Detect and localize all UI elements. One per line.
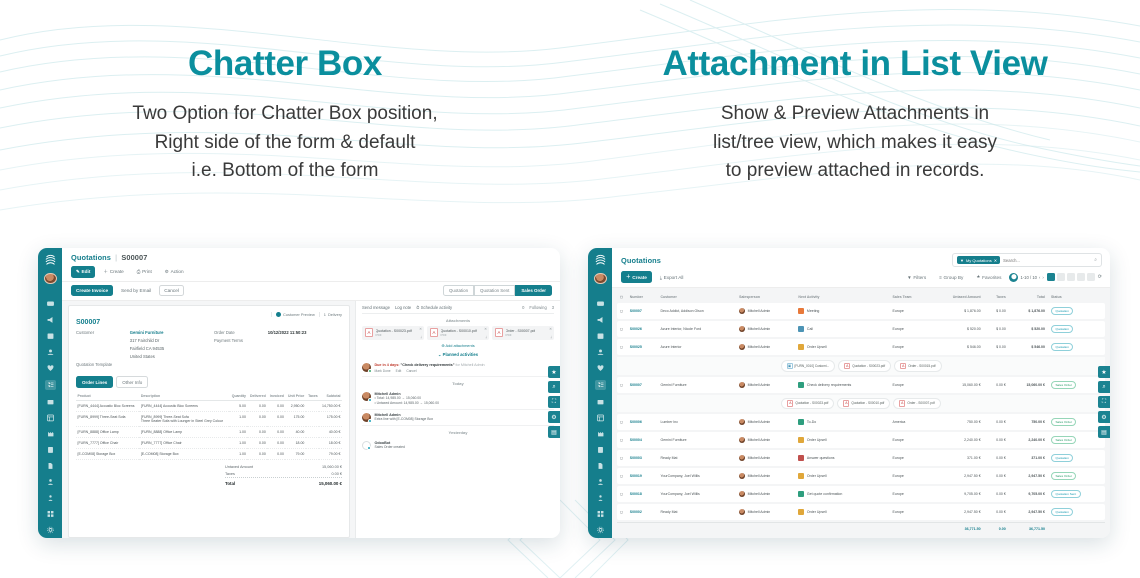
export-all-button[interactable]: ⤓Export All — [655, 272, 689, 283]
favorites-button[interactable]: ★Favorites — [971, 271, 1006, 283]
apps-icon[interactable] — [46, 510, 55, 518]
headline-row: Chatter Box Two Option for Chatter Box p… — [0, 0, 1140, 186]
settings-icon[interactable]: ⚙ — [1098, 411, 1110, 423]
cell-untaxed: 9,705.00 € — [930, 486, 984, 502]
cell-product: [FURN_8999] Three-Seat Sofa — [76, 412, 139, 427]
customer-value[interactable]: Gemini Furniture — [130, 330, 164, 336]
status-badge: Quotation — [1051, 307, 1073, 315]
headline-column-left: Chatter Box Two Option for Chatter Box p… — [0, 0, 570, 186]
status-badge: Sales Order — [1051, 472, 1077, 480]
cell-taxes: 0.00 € — [984, 414, 1009, 430]
pager-next-icon[interactable]: › — [1042, 275, 1043, 280]
attachment-chip[interactable]: AQuotation - S00023.pdf — [781, 398, 834, 410]
attachment-chip[interactable]: AOrder - S00007.pdf — [893, 398, 940, 410]
quotations-body: ◻ S00007 Deco Addict, Addison Olson Mitc… — [617, 303, 1105, 535]
table-row[interactable]: [FURN_8999] Three-Seat Sofa [FURN_8999] … — [76, 412, 342, 427]
cell-customer: Gemini Furniture — [658, 432, 737, 448]
col-subtotal[interactable]: Subtotal — [319, 392, 342, 401]
list-container: ◻ Number Customer Salesperson Next Activ… — [612, 288, 1110, 538]
table-row[interactable]: ◻ S00007 Deco Addict, Addison Olson Mitc… — [617, 303, 1105, 319]
odoo-logo-icon[interactable] — [42, 253, 59, 268]
cancel-button[interactable]: Cancel — [159, 285, 184, 296]
close-icon[interactable]: ✕ — [994, 258, 997, 263]
control-panel: Quotations ▼ My Quotations ✕ ⌕ ＋Create ⤓… — [612, 248, 1110, 288]
download-icon[interactable]: ⤓ — [551, 335, 553, 339]
cell-invoiced: 0.00 — [267, 449, 285, 460]
close-icon[interactable]: ✕ — [549, 327, 552, 331]
total-untaxed-value: 15,060.00 € — [322, 465, 342, 469]
total-untaxed-row: Untaxed Amount 15,060.00 € — [225, 464, 342, 471]
cell-quantity: 1.00 — [229, 427, 247, 438]
row-checkbox[interactable]: ◻ — [617, 339, 627, 355]
cell-number[interactable]: S00025 — [630, 345, 642, 349]
record-title: S00007 — [76, 319, 342, 326]
avatar — [362, 363, 371, 372]
cell-sales-team: Europe — [890, 339, 930, 355]
cell-salesperson: Mitchell Admin — [748, 438, 771, 442]
avatar[interactable] — [44, 273, 57, 285]
cell-subtotal: 18.00 € — [319, 438, 342, 449]
cell-quantity: 1.00 — [229, 412, 247, 427]
create-invoice-button[interactable]: Create Invoice — [71, 285, 113, 296]
row-checkbox[interactable]: ◻ — [617, 303, 627, 319]
pivot-view-icon[interactable] — [1077, 273, 1085, 281]
calendar-view-icon[interactable] — [1067, 273, 1075, 281]
avatar — [739, 491, 745, 497]
chat-icon[interactable]: ▤ — [548, 426, 560, 438]
cell-taxes: $ 0.00 — [984, 303, 1009, 319]
pager-previous-icon[interactable]: ‹ — [1039, 275, 1040, 280]
settings-icon[interactable] — [596, 526, 605, 534]
status-badge: Quotation — [1051, 454, 1073, 462]
cell-number[interactable]: S00018 — [630, 492, 642, 496]
cell-salesperson: Mitchell Admin — [748, 456, 771, 460]
contacts-icon[interactable] — [596, 348, 605, 356]
documents-icon[interactable] — [596, 462, 605, 470]
printer-icon: ⎙ — [137, 269, 141, 274]
sales-icon[interactable] — [595, 380, 606, 390]
attachments-count[interactable]: 3 — [552, 305, 554, 310]
pipeline-quotation[interactable]: Quotation — [443, 285, 474, 296]
sales-icon[interactable] — [45, 380, 56, 390]
cell-sales-team: Europe — [890, 450, 930, 466]
download-icon[interactable]: ⤓ — [486, 335, 488, 339]
expand-icon[interactable]: ⛶ — [1098, 396, 1110, 408]
cell-description: [FURN_8888] Office Lamp — [139, 427, 229, 438]
list-view-icon[interactable] — [1047, 273, 1055, 281]
close-icon[interactable]: ✕ — [484, 327, 487, 331]
print-button[interactable]: ⎙Print — [132, 266, 157, 277]
avatar — [739, 326, 745, 332]
table-row[interactable]: [FURN_7777] Office Chair [FURN_7777] Off… — [76, 438, 342, 449]
table-row[interactable]: ◻ S00003 Ready Mat Mitchell Admin Answer… — [617, 450, 1105, 466]
breadcrumb[interactable]: Quotations | S00007 — [71, 253, 147, 262]
summary-taxes: 0.00 — [984, 522, 1009, 535]
plus-icon: ＋ — [103, 269, 108, 275]
cell-taxes: 0.00 € — [984, 504, 1009, 520]
cell-number[interactable]: S00007 — [630, 383, 642, 387]
attachment-preview-row: ▣[FURN_0010] Customi... AQuotation - S00… — [617, 357, 1105, 375]
status-badge: Quotation — [1051, 325, 1073, 333]
cell-subtotal: 79.00 € — [319, 449, 342, 460]
app-sidebar-left[interactable] — [38, 248, 62, 538]
cell-taxes: 0.00 € — [984, 486, 1009, 502]
filters-button[interactable]: ▼Filters — [902, 272, 931, 283]
search-icon[interactable]: ⌕ — [548, 381, 560, 393]
download-icon[interactable]: ⤓ — [421, 335, 423, 339]
attachment-card[interactable]: A Quotation - S00023.pdf PDF ✕ ⤓ — [362, 326, 424, 340]
avatar — [739, 382, 745, 388]
megaphone-icon[interactable] — [596, 316, 605, 324]
inventory-icon[interactable] — [46, 398, 55, 406]
headline-column-right: Attachment in List View Show & Preview A… — [570, 0, 1140, 186]
cell-activity: Get quote confirmation — [807, 492, 842, 496]
employees-icon[interactable] — [46, 478, 55, 486]
cell-activity: Order Upsell — [807, 438, 827, 442]
settings-icon[interactable]: ⚙ — [548, 411, 560, 423]
cell-quantity: 1.00 — [229, 438, 247, 449]
settings-icon[interactable] — [46, 526, 55, 534]
cell-total: 750.00 € — [1009, 414, 1048, 430]
table-row[interactable]: [FURN_8888] Office Lamp [FURN_8888] Offi… — [76, 427, 342, 438]
messages-icon[interactable] — [46, 300, 55, 308]
avatar — [739, 308, 745, 314]
odoo-logo-icon[interactable] — [592, 253, 609, 268]
cell-untaxed: 2,947.50 € — [930, 468, 984, 484]
attachment-chip-list: AQuotation - S00023.pdf AQuotation - S00… — [620, 398, 1102, 410]
activity-view-icon[interactable]: ⟳ — [1098, 274, 1102, 280]
cell-taxes: $ 0.00 — [984, 321, 1009, 337]
cell-salesperson: Mitchell Admin — [748, 420, 771, 424]
total-grand-row: Total 15,060.00 € — [225, 477, 342, 487]
planned-activities-title: ⌄ Planned activities — [362, 352, 554, 357]
cell-activity: Call — [807, 327, 813, 331]
headline-subtitle-left: Two Option for Chatter Box position, Rig… — [0, 100, 570, 186]
search-facet[interactable]: ▼ My Quotations ✕ — [957, 256, 1000, 264]
attachment-toggle-icon[interactable]: ⬤ — [1009, 273, 1018, 282]
recruitment-icon[interactable] — [596, 494, 605, 502]
graph-view-icon[interactable] — [1087, 273, 1095, 281]
recruitment-icon[interactable] — [46, 494, 55, 502]
form-action-buttons: ✎Edit ＋Create ⎙Print ⚙Action — [71, 266, 552, 278]
calendar-icon[interactable] — [46, 332, 55, 340]
table-row[interactable]: ◻ S00002 Ready Mat Mitchell Admin Order … — [617, 504, 1105, 520]
kanban-view-icon[interactable] — [1057, 273, 1065, 281]
cell-description: [FURN_4444] Acoustic Bloc Screens — [139, 401, 229, 412]
attachment-preview-row: AQuotation - S00023.pdf AQuotation - S00… — [617, 395, 1105, 413]
cell-unit-price: 40.00 — [285, 427, 305, 438]
crm-icon[interactable] — [596, 364, 605, 372]
cell-salesperson: Mitchell Admin — [748, 309, 771, 313]
group-by-button[interactable]: ≡Group By — [934, 272, 968, 283]
col-description[interactable]: Description — [139, 392, 229, 401]
col-taxes[interactable]: Taxes — [984, 293, 1009, 301]
row-checkbox[interactable]: ◻ — [617, 432, 627, 448]
row-checkbox[interactable]: ◻ — [617, 468, 627, 484]
cell-activity: Check delivery requirements — [807, 383, 851, 387]
filter-icon: ▼ — [907, 275, 912, 280]
col-total[interactable]: Total — [1009, 293, 1048, 301]
breadcrumb-app[interactable]: Quotations — [71, 253, 111, 262]
delivery-smart-button[interactable]: 1 Delivery — [319, 312, 342, 317]
pipeline-quotation-sent[interactable]: Quotation Sent — [474, 285, 515, 296]
form-view-screenshot: Quotations | S00007 ✎Edit ＋Create ⎙Print… — [38, 248, 560, 538]
cell-untaxed: $ 1,876.00 — [930, 303, 984, 319]
cell-activity: To-Do — [807, 420, 816, 424]
table-row[interactable]: ◻ S00007 Gemini Furniture Mitchell Admin… — [617, 377, 1105, 393]
star-icon[interactable]: ★ — [548, 366, 560, 378]
row-checkbox[interactable]: ◻ — [617, 450, 627, 466]
control-panel: Quotations | S00007 ✎Edit ＋Create ⎙Print… — [62, 248, 560, 282]
group-icon: ≡ — [939, 275, 942, 280]
chatter-message: OdooBot Sales Order created — [362, 438, 554, 453]
crm-icon[interactable] — [46, 364, 55, 372]
col-invoiced[interactable]: Invoiced — [267, 392, 285, 401]
col-customer[interactable]: Customer — [658, 293, 737, 301]
cell-taxes: 0.00 € — [984, 468, 1009, 484]
col-delivered[interactable]: Delivered — [247, 392, 267, 401]
row-checkbox[interactable]: ◻ — [617, 504, 627, 520]
purchase-icon[interactable] — [596, 414, 605, 422]
search-icon[interactable]: ⌕ — [1094, 257, 1097, 263]
search-input[interactable] — [1003, 258, 1091, 263]
cancel-activity-button[interactable]: Cancel — [406, 369, 416, 373]
documents-icon[interactable] — [46, 462, 55, 470]
chat-icon[interactable]: ▤ — [1098, 426, 1110, 438]
cell-salesperson: Mitchell Admin — [748, 345, 771, 349]
col-select-all[interactable]: ◻ — [617, 293, 627, 301]
apps-icon[interactable] — [596, 510, 605, 518]
attachment-chip[interactable]: AOrder - S00015.pdf — [894, 360, 941, 372]
cell-salesperson: Mitchell Admin — [748, 474, 771, 478]
close-icon[interactable]: ✕ — [419, 327, 422, 331]
cell-number[interactable]: S00026 — [630, 327, 642, 331]
accounting-icon[interactable] — [46, 446, 55, 454]
messages-icon[interactable] — [596, 300, 605, 308]
cell-salesperson: Mitchell Admin — [748, 510, 771, 514]
cell-number[interactable]: S00004 — [630, 438, 642, 442]
col-unit-price[interactable]: Unit Price — [285, 392, 305, 401]
col-product[interactable]: Product — [76, 392, 139, 401]
cell-customer: Gemini Furniture — [658, 377, 737, 393]
table-row[interactable]: ◻ S00004 Gemini Furniture Mitchell Admin… — [617, 432, 1105, 448]
avatar — [739, 473, 745, 479]
cell-customer: YourCompany, Joel Willis — [658, 486, 737, 502]
cell-activity: Meeting — [807, 309, 819, 313]
col-next-activity[interactable]: Next Activity — [795, 293, 889, 301]
todo-icon — [798, 491, 804, 497]
row-checkbox[interactable]: ◻ — [617, 321, 627, 337]
status-badge: Quotation — [1051, 343, 1073, 351]
table-row[interactable]: [FURN_4444] Acoustic Bloc Screens [FURN_… — [76, 401, 342, 412]
contacts-icon[interactable] — [46, 348, 55, 356]
calendar-icon[interactable] — [596, 332, 605, 340]
table-row[interactable]: ◻ S00018 YourCompany, Joel Willis Mitche… — [617, 486, 1105, 502]
cell-product: [FURN_4444] Acoustic Bloc Screens — [76, 401, 139, 412]
call-icon — [798, 326, 804, 332]
view-switcher — [1047, 273, 1095, 281]
list-view-screenshot: Quotations ▼ My Quotations ✕ ⌕ ＋Create ⤓… — [588, 248, 1110, 538]
floating-action-buttons-left: ★ ⌕ ⛶ ⚙ ▤ — [548, 366, 560, 438]
manufacturing-icon[interactable] — [46, 430, 55, 438]
log-note-button[interactable]: Log note — [395, 305, 411, 310]
employees-icon[interactable] — [596, 478, 605, 486]
expand-icon[interactable]: ⛶ — [548, 396, 560, 408]
create-button[interactable]: ＋Create — [98, 266, 128, 278]
row-checkbox[interactable]: ◻ — [617, 414, 627, 430]
smart-buttons: Customer Preview 1 Delivery — [76, 312, 342, 317]
table-row[interactable]: [E-COM08] Storage Box [E-COM08] Storage … — [76, 449, 342, 460]
headline-title-left: Chatter Box — [0, 44, 570, 84]
mark-done-button[interactable]: Mark Done — [375, 369, 391, 373]
following-button[interactable]: Following — [529, 305, 546, 310]
cell-number[interactable]: S00019 — [630, 474, 642, 478]
status-badge: Sales Order — [1051, 418, 1077, 426]
headline-subtitle-right: Show & Preview Attachments in list/tree … — [570, 100, 1140, 186]
action-button[interactable]: ⚙Action — [160, 266, 189, 278]
megaphone-icon[interactable] — [46, 316, 55, 324]
search-bar[interactable]: ▼ My Quotations ✕ ⌕ — [952, 253, 1102, 267]
cell-total: 371.00 € — [1009, 450, 1048, 466]
pager-range: 1-10 / 10 — [1020, 275, 1037, 280]
chevron-down-icon: ⌄ — [438, 352, 442, 357]
cell-sales-team: Europe — [890, 432, 930, 448]
star-icon: ★ — [976, 274, 980, 280]
tab-order-lines[interactable]: Order Lines — [76, 376, 113, 388]
edit-button[interactable]: ✎Edit — [71, 266, 95, 278]
cell-unit-price: 18.00 — [285, 438, 305, 449]
status-bar: Create Invoice Send by Email Cancel Quot… — [62, 282, 560, 301]
form-fields-right: Order Date 10/12/2022 11:50:23 Payment T… — [214, 330, 342, 370]
activity-item: Due in 4 days: "Check delivery requireme… — [362, 360, 554, 377]
send-message-button[interactable]: Send message — [362, 305, 390, 310]
status-badge: Quotation — [1051, 508, 1073, 516]
attachment-card[interactable]: A Order - S00007.pdf PDF ✕ ⤓ — [492, 326, 554, 340]
purchase-icon[interactable] — [46, 414, 55, 422]
cell-customer: Lumber Inc — [658, 414, 737, 430]
pdf-icon: A — [365, 328, 373, 337]
col-number[interactable]: Number — [627, 293, 658, 301]
row-checkbox[interactable]: ◻ — [617, 377, 627, 393]
create-button[interactable]: ＋Create — [621, 271, 652, 283]
schedule-activity-button[interactable]: ⏱ Schedule activity — [416, 305, 452, 310]
total-grand-value: 15,060.00 € — [319, 481, 342, 486]
cell-sales-team: Europe — [890, 504, 930, 520]
status-badge — [367, 446, 371, 450]
cell-number[interactable]: S00002 — [630, 510, 642, 514]
order-lines-table: Product Description Quantity Delivered I… — [76, 392, 342, 460]
cell-taxes: 0.00 € — [984, 450, 1009, 466]
form-view-main: Quotations | S00007 ✎Edit ＋Create ⎙Print… — [62, 248, 560, 538]
order-date-value[interactable]: 10/12/2022 11:50:23 — [268, 330, 307, 336]
cell-subtotal: 14,750.00 € — [319, 401, 342, 412]
table-row[interactable]: ◻ S00025 Azure Interior Mitchell Admin O… — [617, 339, 1105, 355]
form-sheet-column: Customer Preview 1 Delivery S00007 Custo… — [62, 301, 355, 538]
avatar[interactable] — [594, 273, 607, 285]
manufacturing-icon[interactable] — [596, 430, 605, 438]
col-untaxed-amount[interactable]: Untaxed Amount — [930, 293, 984, 301]
cell-salesperson: Mitchell Admin — [748, 492, 771, 496]
plus-icon: ＋ — [626, 274, 631, 280]
row-checkbox[interactable]: ◻ — [617, 486, 627, 502]
cell-number[interactable]: S00003 — [630, 456, 642, 460]
customer-preview-button[interactable]: Customer Preview — [271, 312, 315, 317]
notebook-tabs: Order Lines Other Info — [76, 376, 342, 388]
cell-subtotal: 40.00 € — [319, 427, 342, 438]
attachment-chip[interactable]: AQuotation - S00010.pdf — [837, 398, 890, 410]
cell-number[interactable]: S00006 — [630, 420, 642, 424]
cell-taxes: 0.00 € — [984, 377, 1009, 393]
table-row[interactable]: ◻ S00019 YourCompany, Joel Willis Mitche… — [617, 468, 1105, 484]
cell-untaxed: 15,060.00 € — [930, 377, 984, 393]
message-body: • Total: 14,985.00 → 15,060.00 • Untaxed… — [375, 396, 555, 406]
customer-address-line-2: Fairfield CA 94535 — [130, 346, 164, 352]
attachment-chip[interactable]: AQuotation - S00023.pdf — [838, 360, 891, 372]
col-quantity[interactable]: Quantity — [229, 392, 247, 401]
col-taxes[interactable]: Taxes — [306, 392, 319, 401]
col-salesperson[interactable]: Salesperson — [736, 293, 795, 301]
cell-unit-price: 2,950.00 — [285, 401, 305, 412]
cell-taxes — [306, 412, 319, 427]
attachment-chip-list: ▣[FURN_0010] Customi... AQuotation - S00… — [620, 360, 1102, 372]
tab-other-info[interactable]: Other Info — [116, 376, 148, 388]
send-by-email-button[interactable]: Send by Email — [116, 285, 156, 296]
activity-due: Due in 4 days: — [375, 363, 400, 367]
delivery-count: 1 — [324, 312, 326, 317]
upsell-icon — [798, 437, 804, 443]
cell-invoiced: 0.00 — [267, 438, 285, 449]
cell-untaxed: 2,240.00 € — [930, 432, 984, 448]
pipeline-sales-order[interactable]: Sales Order — [515, 285, 552, 296]
star-icon[interactable]: ★ — [1098, 366, 1110, 378]
cell-customer: Azure Interior, Nicole Ford — [658, 321, 737, 337]
attachment-card[interactable]: A Quotation - S00010.pdf PDF ✕ ⤓ — [427, 326, 489, 340]
table-row[interactable]: ◻ S00006 Lumber Inc Mitchell Admin To-Do… — [617, 414, 1105, 430]
cell-activity: Order Upsell — [807, 474, 827, 478]
avatar — [739, 419, 745, 425]
attachment-chip[interactable]: ▣[FURN_0010] Customi... — [781, 360, 836, 372]
table-header-row: ◻ Number Customer Salesperson Next Activ… — [617, 293, 1105, 301]
app-sidebar-right[interactable] — [588, 248, 612, 538]
search-icon[interactable]: ⌕ — [1098, 381, 1110, 393]
col-status[interactable]: Status — [1048, 293, 1105, 301]
cell-number[interactable]: S00007 — [630, 309, 642, 313]
breadcrumb[interactable]: Quotations — [621, 256, 661, 265]
cell-quantity: 5.00 — [229, 401, 247, 412]
cell-customer: YourCompany, Joel Willis — [658, 468, 737, 484]
table-row[interactable]: ◻ S00026 Azure Interior, Nicole Ford Mit… — [617, 321, 1105, 337]
col-sales-team[interactable]: Sales Team — [890, 293, 930, 301]
add-attachments-button[interactable]: ⊕ Add attachments — [362, 343, 554, 348]
eye-icon — [276, 312, 281, 317]
edit-activity-button[interactable]: Edit — [396, 369, 402, 373]
quotations-table: ◻ Number Customer Salesperson Next Activ… — [617, 291, 1105, 537]
meeting-icon — [798, 308, 804, 314]
attachment-type: PDF — [441, 333, 477, 337]
followers-count[interactable]: 0 — [522, 305, 524, 310]
pdf-icon: A — [844, 363, 850, 370]
avatar — [362, 392, 371, 401]
cell-sales-team: Europe — [890, 321, 930, 337]
cell-untaxed: $ 546.00 — [930, 339, 984, 355]
cell-untaxed: 2,947.50 € — [930, 504, 984, 520]
activity-summary: "Check delivery requirements" — [401, 363, 455, 367]
accounting-icon[interactable] — [596, 446, 605, 454]
inventory-icon[interactable] — [596, 398, 605, 406]
cell-customer: Ready Mat — [658, 450, 737, 466]
quotation-template-label: Quotation Template — [76, 362, 130, 368]
cell-total: 9,705.00 € — [1009, 486, 1048, 502]
